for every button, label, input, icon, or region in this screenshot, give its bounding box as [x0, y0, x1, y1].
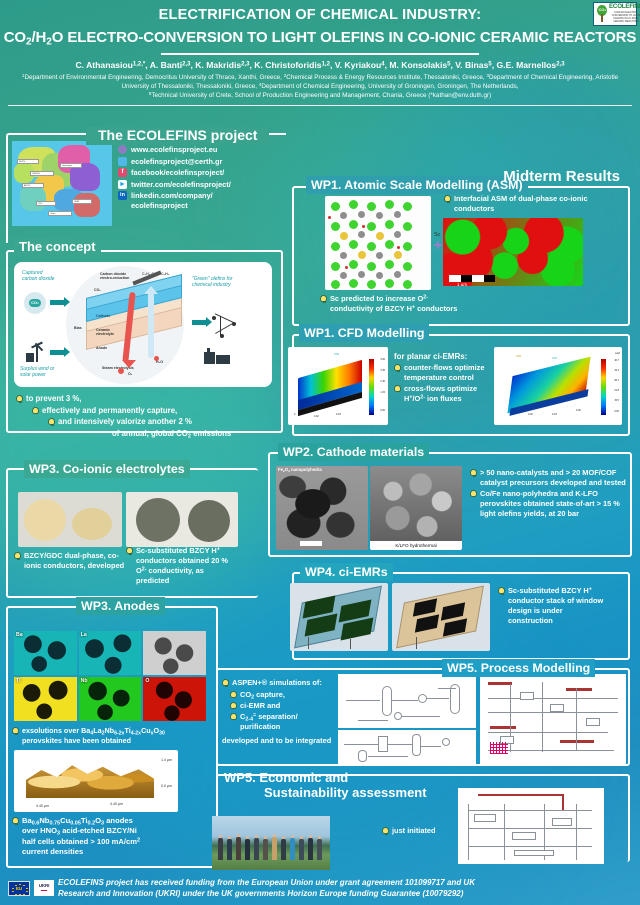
bulb-icon	[498, 587, 505, 594]
contact-row[interactable]: ecolefinsproject@certh.gr	[118, 157, 283, 166]
cfd-plot-left-image: 4.60 3.45 2.30 1.15 0.00 CH4 0 0.02 0.04	[288, 347, 388, 425]
concept-diagram-image: CO₂ Capturedcarbon dioxide Surplus wind …	[14, 262, 272, 387]
bullet-text: BZCY/GDC dual-phase, co-ionic conductors…	[24, 551, 126, 571]
title-mask: WP4. ci-EMRs	[300, 563, 393, 581]
wp3-anodes-bullet-2: Ba0.6Nb0.75Cu0.05Ti0.2O3 anodesover HNO3…	[12, 816, 212, 858]
map-tag: Crete	[48, 211, 72, 216]
wp5-econ-title-2: Sustainability assessment	[264, 785, 427, 800]
wp2-bullets: > 50 nano-catalysts and > 20 MOF/COF cat…	[470, 468, 626, 520]
title-mask: WP2. Cathode materials	[278, 443, 429, 461]
section-title-wp2: WP2. Cathode materials	[283, 445, 424, 459]
funding-line-2: Research and Innovation (UKRI) under the…	[58, 888, 475, 899]
bullet-text: effectively and permanently capture,	[42, 406, 177, 417]
bullet-text: cross-flows optimizeH+/O2- ion fluxes	[404, 384, 477, 404]
asm-crystal-image	[325, 196, 431, 290]
title-mask: WP3. Anodes	[76, 597, 165, 615]
bullet-text: > 50 nano-catalysts and > 20 MOF/COF cat…	[480, 468, 626, 488]
tree-icon: CO₂	[596, 4, 608, 24]
affiliation-list: 1Department of Environmental Engineering…	[0, 71, 640, 100]
title-mask: WP3. Co-ionic electrolytes	[24, 460, 190, 478]
logo-subtitle: CO2/H2O ELECTRO-CONVERSION TO LIGHT OLEF…	[609, 11, 640, 24]
ecolefins-logo: CO₂ ECOLEFINS CO2/H2O ELECTRO-CONVERSION…	[593, 2, 637, 26]
eds-map-grid: Ba La Ti Nb O	[14, 631, 206, 721]
bullet-text: ASPEN+® simulations of:	[232, 678, 322, 688]
afm-axis-label: 4.40 µm	[36, 804, 49, 808]
bullet-text: CO2 capture,	[240, 690, 285, 700]
concept-bullets: to prevent 3 %, effectively and permanen…	[16, 394, 274, 440]
bullet-text: Interfacial ASM of dual-phase co-ionic c…	[454, 194, 594, 214]
section-title-project: The ECOLEFINS project	[92, 127, 263, 143]
image-caption: Fe2O3 nanopolyhedra	[278, 467, 322, 472]
wp5-process-outro: developed and to be integrated	[222, 736, 334, 746]
globe-icon	[118, 145, 127, 154]
twitter-icon: ►	[118, 180, 127, 189]
ukri-logo: UKRI ▬▬	[34, 880, 54, 896]
title-mask: WP5. Process Modelling	[442, 659, 595, 677]
bulb-icon	[230, 713, 237, 720]
sc-bzcy-pellets-image	[126, 492, 238, 547]
wp3-elec-bullet-2: Sc-substituted BZCY H+conductors obtaine…	[126, 546, 246, 587]
funding-text: ECOLEFINS project has received funding f…	[58, 877, 475, 899]
wp1-asm-bullet-bottom: Sc predicted to increase O2-conductivity…	[320, 294, 510, 315]
contact-row[interactable]: www.ecolefinsproject.eu	[118, 145, 283, 154]
section-title-wp3-anodes: WP3. Anodes	[81, 599, 160, 613]
bulb-icon	[394, 385, 401, 392]
eds-label: Ti	[16, 678, 21, 684]
bulb-icon	[126, 547, 133, 554]
bulb-icon	[16, 395, 23, 402]
flowsheet-top-image	[338, 674, 476, 728]
bulb-icon	[382, 827, 389, 834]
bullet-text: ci-EMR and	[240, 701, 280, 711]
title-mask: WP1. CFD Modelling	[299, 324, 429, 342]
eu-flag-icon: EU	[8, 881, 30, 896]
bullet-text: Sc predicted to increase O2-conductivity…	[330, 294, 457, 314]
contact-row[interactable]: in linkedin.com/company/ecolefinsproject	[118, 191, 283, 210]
bullet-text: Sc-substituted BZCY H+conductors obtaine…	[136, 546, 228, 586]
title-mask: The ECOLEFINS project	[86, 127, 269, 145]
contact-row[interactable]: ► twitter.com/ecolefinsproject/	[118, 180, 283, 189]
bulb-icon	[48, 418, 55, 425]
ciemr-cell-tan-image	[392, 583, 490, 651]
dual-phase-microstructure-image: 1 µm	[443, 218, 583, 286]
afm-axis-label: 0.0 µm	[161, 784, 172, 788]
map-tag: CERTH	[30, 171, 54, 176]
eds-tile-ba: Ba	[14, 631, 77, 675]
bullet-text: C2-4= separation/purification	[240, 712, 298, 732]
wp3-elec-bullet-1: BZCY/GDC dual-phase, co-ionic conductors…	[14, 551, 126, 572]
author-list: C. Athanasiou1,2,*, A. Banti2,3, K. Makr…	[0, 60, 640, 72]
bullet-text: counter-flows optimize temperature contr…	[404, 363, 498, 383]
page-subtitle: CO2/H2O ELECTRO-CONVERSION TO LIGHT OLEF…	[0, 28, 640, 48]
header-divider	[8, 105, 632, 107]
bullet-text: Ba0.6Nb0.75Cu0.05Ti0.2O3 anodesover HNO3…	[22, 816, 140, 857]
bulb-icon	[230, 691, 237, 698]
scale-bar-label: 1 µm	[457, 282, 467, 286]
section-title-wp3-electrolytes: WP3. Co-ionic electrolytes	[29, 462, 185, 476]
bullet-text: to prevent 3 %,	[26, 394, 81, 405]
bulb-icon	[12, 727, 19, 734]
contact-text: ecolefinsproject@certh.gr	[131, 157, 222, 166]
contact-text: www.ecolefinsproject.eu	[131, 145, 217, 154]
bulb-icon	[444, 195, 451, 202]
eds-label: Ba	[16, 632, 23, 638]
page-title: ELECTRIFICATION OF CHEMICAL INDUSTRY:	[0, 6, 640, 24]
contacts-list: www.ecolefinsproject.eu ecolefinsproject…	[118, 145, 283, 210]
bullet-text: Sc-substituted BZCY H+conductor stack of…	[508, 586, 603, 626]
wp4-bullet: Sc-substituted BZCY H+conductor stack of…	[498, 586, 620, 627]
bulb-icon	[470, 490, 477, 497]
eds-label: O	[145, 678, 149, 684]
email-icon	[118, 157, 127, 166]
funding-footer: EU UKRI ▬▬ ECOLEFINS project has receive…	[0, 871, 640, 905]
section-title-wp5-process: WP5. Process Modelling	[447, 661, 590, 675]
eds-tile-ti: Ti	[14, 677, 77, 721]
fe2o3-tem-image: Fe2O3 nanopolyhedra	[276, 466, 368, 550]
eds-tile-la: La	[79, 631, 142, 675]
section-title-wp1-asm: WP1. Atomic Scale Modelling (ASM)	[311, 178, 523, 192]
bulb-icon	[12, 817, 19, 824]
eds-tile-nb: Nb	[79, 677, 142, 721]
contact-row[interactable]: f facebook/ecolefinsproject/	[118, 168, 283, 177]
contact-text: twitter.com/ecolefinsproject/	[131, 180, 231, 189]
sustainability-diagram-image	[458, 788, 604, 864]
wp3-anodes-bullet-1: exsolutions over Ba4La2Nb6-2xTi4-2xCuxO3…	[12, 726, 212, 746]
cfd-plot-right-image: mol/l 40.7 34.4 28.1 21.8 15.5 0.00 CH4 …	[494, 347, 622, 425]
wp5-econ-bullet: just initiated	[382, 826, 436, 837]
wp5-process-text: ASPEN+® simulations of: CO2 capture, ci-…	[222, 678, 334, 746]
image-caption: K/LFO hydrothermal	[370, 541, 462, 550]
bullet-text: exsolutions over Ba4La2Nb6-2xTi4-2xCuxO3…	[22, 726, 165, 745]
section-title-wp4: WP4. ci-EMRs	[305, 565, 388, 579]
map-tag: TUC	[36, 201, 56, 206]
ukri-mark: ▬▬	[41, 889, 47, 892]
section-title-wp1-cfd: WP1. CFD Modelling	[304, 326, 424, 340]
bulb-icon	[32, 407, 39, 414]
team-photo-image	[212, 816, 330, 870]
eds-label: Nb	[81, 678, 88, 684]
afm-surface-image: 1.4 µm 0.0 µm 4.40 µm 4.40 µm	[14, 750, 178, 812]
map-tag: DUTH	[17, 159, 39, 164]
facebook-icon: f	[118, 168, 127, 177]
map-tag: Groningen	[60, 163, 82, 168]
bulb-icon	[222, 679, 229, 686]
wp1-asm-bullet-right: Interfacial ASM of dual-phase co-ionic c…	[444, 194, 594, 215]
title-divider	[161, 53, 479, 55]
wp1-cfd-text: for planar ci-EMRs: counter-flows optimi…	[394, 352, 498, 405]
bulb-icon	[230, 702, 237, 709]
asm-sc-label: Sc	[434, 232, 440, 238]
bulb-icon	[320, 295, 327, 302]
linkedin-icon: in	[118, 191, 127, 200]
title-mask: The concept	[14, 238, 101, 256]
bullet-text: and intensively valorize another 2 %	[58, 417, 192, 428]
poster-header: ELECTRIFICATION OF CHEMICAL INDUSTRY: CO…	[0, 0, 640, 108]
ciemr-cell-green-image	[290, 583, 388, 651]
afm-axis-label: 1.4 µm	[161, 758, 172, 762]
funding-line-1: ECOLEFINS project has received funding f…	[58, 877, 475, 888]
wp5-econ-title-1: WP5. Economic and	[224, 770, 427, 785]
cfd-intro: for planar ci-EMRs:	[394, 352, 498, 361]
flowsheet-bottom-image	[338, 730, 476, 764]
bulb-icon	[394, 364, 401, 371]
bullet-text: of annual, global CO2 emissions	[112, 429, 231, 440]
section-title-wp5-econ: WP5. Economic and Sustainability assessm…	[224, 770, 427, 800]
bzcy-gdc-pellets-image	[18, 492, 122, 547]
bulb-icon	[470, 469, 477, 476]
bullet-text: Co/Fe nano-polyhedra and K-LFO perovskit…	[480, 489, 626, 519]
partners-map-image: DUTH Groningen CERTH AUTH TUC UKRI Crete	[12, 141, 112, 226]
map-tag: UKRI	[72, 199, 92, 204]
contact-text: linkedin.com/company/ecolefinsproject	[131, 191, 213, 210]
contact-text: facebook/ecolefinsproject/	[131, 168, 224, 177]
title-mask: WP1. Atomic Scale Modelling (ASM)	[306, 176, 528, 194]
eds-tile-sem	[143, 631, 206, 675]
afm-axis-label: 4.40 µm	[110, 802, 123, 806]
eds-tile-o: O	[143, 677, 206, 721]
bulb-icon	[14, 552, 21, 559]
section-title-concept: The concept	[19, 239, 96, 254]
midterm-results-title: Midterm Results	[503, 168, 620, 185]
bullet-text: just initiated	[392, 826, 436, 836]
eds-label: La	[81, 632, 87, 638]
pid-diagram-image	[480, 674, 626, 764]
klfo-sem-image: K/LFO hydrothermal	[370, 466, 462, 550]
map-tag: AUTH	[22, 183, 44, 188]
